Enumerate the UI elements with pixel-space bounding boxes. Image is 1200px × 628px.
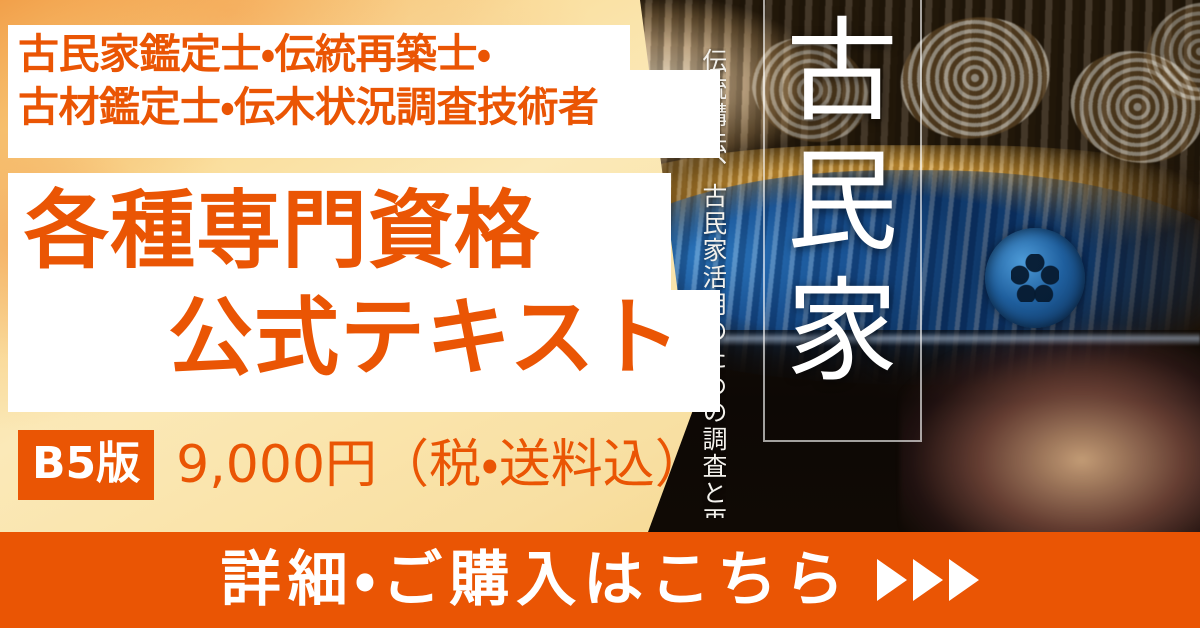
book-cover-title-char: 家 xyxy=(768,268,916,398)
book-cover-title-char: 民 xyxy=(768,138,916,268)
sub-headline-line-2: 古材鑑定士・伝木状況調査技術者 xyxy=(18,81,718,134)
price-row: B5版 9,000円（税・送料込） xyxy=(18,430,707,500)
sub-headline: 古民家鑑定士・伝統再築士・ 古材鑑定士・伝木状況調査技術者 xyxy=(18,28,718,135)
chevron-right-icon xyxy=(913,559,943,601)
book-cover-title-char: 古 xyxy=(768,8,916,138)
cover-warm-glow xyxy=(900,340,1200,532)
price-amount: 9,000円（税・送料込） xyxy=(176,439,707,491)
main-headline-line-2: 公式テキスト xyxy=(8,285,720,392)
chevron-right-icon xyxy=(877,559,907,601)
main-headline-line-1: 各種専門資格 xyxy=(8,178,720,285)
format-badge: B5版 xyxy=(18,430,154,500)
sub-headline-line-1: 古民家鑑定士・伝統再築士・ xyxy=(18,28,718,81)
book-cover-title: 古 民 家 xyxy=(768,8,916,398)
cta-bar[interactable]: 詳細・ご購入はこちら xyxy=(0,532,1200,628)
main-headline: 各種専門資格 公式テキスト xyxy=(8,178,720,392)
family-crest-medallion-icon xyxy=(985,228,1085,328)
promo-banner: 伝統構法、古民家活用のための調査と再生の 古 民 家 古民家鑑定士・伝統再築士・… xyxy=(0,0,1200,628)
cta-arrows xyxy=(877,559,979,601)
chevron-right-icon xyxy=(949,559,979,601)
cta-label: 詳細・ご購入はこちら xyxy=(221,550,851,610)
